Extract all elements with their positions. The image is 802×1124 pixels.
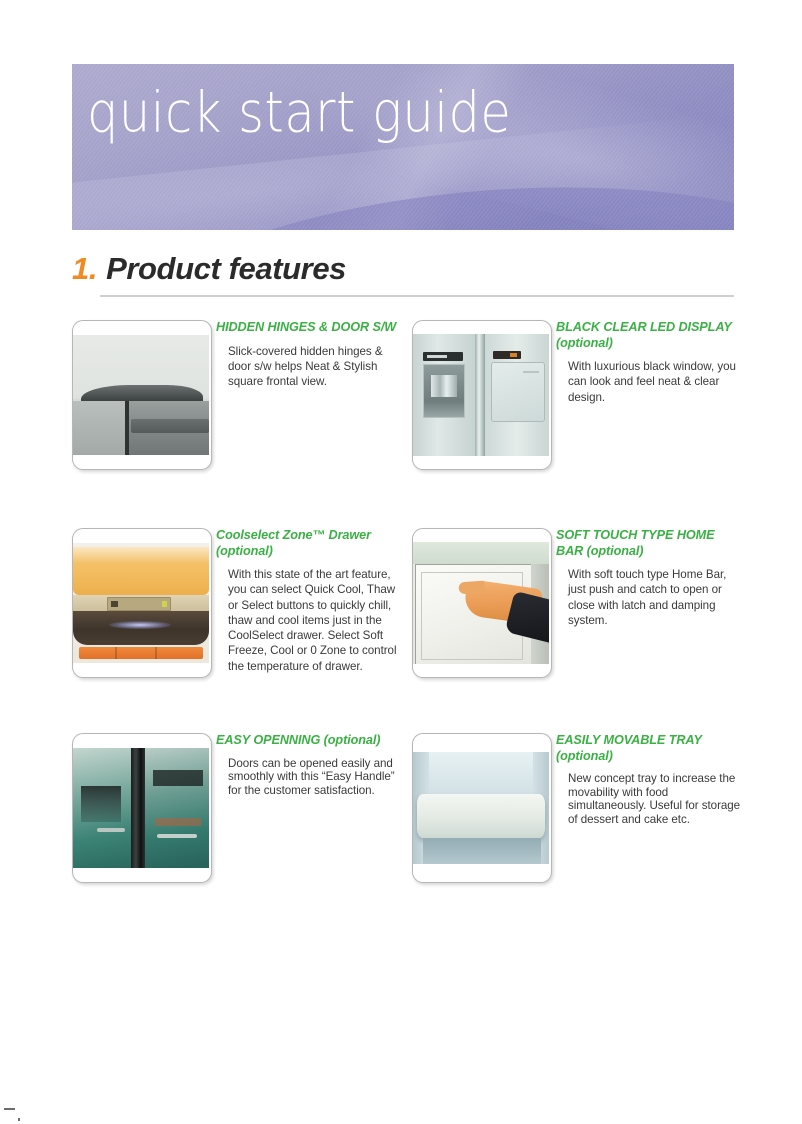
feature-body: New concept tray to increase the movabil… <box>568 772 742 826</box>
crop-mark-horizontal <box>4 1108 15 1110</box>
feature-heading: EASILY MOVABLE TRAY (optional) <box>556 733 742 764</box>
easily-movable-tray-photo <box>413 752 549 864</box>
feature-heading: BLACK CLEAR LED DISPLAY (optional) <box>556 320 742 351</box>
section-divider <box>100 295 734 297</box>
feature-body: With this state of the art feature, you … <box>228 567 402 674</box>
feature-body: With soft touch type Home Bar, just push… <box>568 567 742 628</box>
section-number: 1. <box>72 250 97 288</box>
soft-touch-home-bar-photo <box>413 542 549 664</box>
feature-heading: HIDDEN HINGES & DOOR S/W <box>216 320 402 336</box>
hidden-hinges-photo-frame <box>72 320 212 470</box>
page-canvas: quick start guide 1. Product features HI… <box>0 0 802 1124</box>
page-banner: quick start guide <box>72 64 734 230</box>
crop-mark-vertical <box>18 1118 20 1121</box>
hidden-hinges-photo <box>73 335 209 455</box>
easy-opening-doors-photo <box>73 748 209 868</box>
coolselect-zone-drawer-photo <box>73 543 209 663</box>
soft-touch-home-bar-photo-frame <box>412 528 552 678</box>
coolselect-zone-drawer-photo-frame <box>72 528 212 678</box>
easy-opening-doors-photo-frame <box>72 733 212 883</box>
feature-heading: Coolselect Zone™ Drawer (optional) <box>216 528 402 559</box>
banner-title: quick start guide <box>87 80 511 145</box>
page-title: Product features <box>106 250 346 288</box>
feature-heading: EASY OPENNING (optional) <box>216 733 402 749</box>
easily-movable-tray-photo-frame <box>412 733 552 883</box>
black-clear-led-display-photo-frame <box>412 320 552 470</box>
feature-body: Doors can be opened easily and smoothly … <box>228 757 402 798</box>
feature-body: Slick-covered hidden hinges & door s/w h… <box>228 344 402 390</box>
black-clear-led-display-photo <box>413 334 549 456</box>
feature-body: With luxurious black window, you can loo… <box>568 359 742 405</box>
feature-heading: SOFT TOUCH TYPE HOME BAR (optional) <box>556 528 742 559</box>
section-heading: 1. Product features <box>72 250 734 288</box>
